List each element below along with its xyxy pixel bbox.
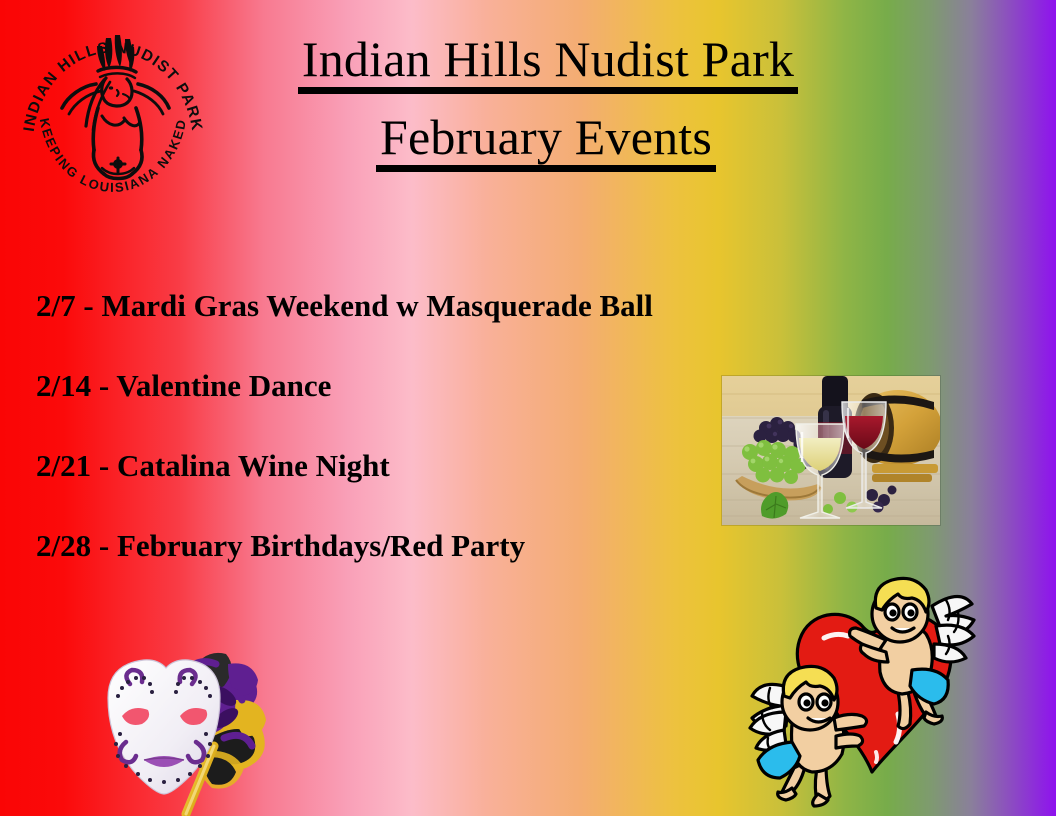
event-separator: -	[91, 448, 117, 483]
event-date: 2/21	[36, 448, 91, 483]
event-name: Valentine Dance	[116, 368, 331, 403]
event-row: 2/7 - Mardi Gras Weekend w Masquerade Ba…	[36, 290, 916, 321]
wine-photo-image	[722, 376, 940, 525]
title-line-2-text: February Events	[376, 112, 716, 172]
event-name: February Birthdays/Red Party	[117, 528, 525, 563]
event-name: Catalina Wine Night	[117, 448, 390, 483]
park-logo: INDIAN HILLS NUDIST PARK KEEPING LOUISIA…	[18, 8, 208, 226]
event-separator: -	[91, 528, 117, 563]
event-separator: -	[76, 288, 102, 323]
event-name: Mardi Gras Weekend w Masquerade Ball	[101, 288, 652, 323]
event-date: 2/14	[36, 368, 91, 403]
event-date: 2/7	[36, 288, 76, 323]
event-date: 2/28	[36, 528, 91, 563]
cupids-heart-icon	[736, 566, 986, 816]
title-line-1-text: Indian Hills Nudist Park	[298, 34, 798, 94]
logo-arc-bottom-text: KEEPING LOUISIANA NAKED	[37, 117, 189, 195]
event-row: 2/28 - February Birthdays/Red Party	[36, 530, 916, 561]
event-separator: -	[91, 368, 116, 403]
event-flyer: INDIAN HILLS NUDIST PARK KEEPING LOUISIA…	[0, 0, 1056, 816]
masquerade-mask-icon	[86, 634, 282, 816]
